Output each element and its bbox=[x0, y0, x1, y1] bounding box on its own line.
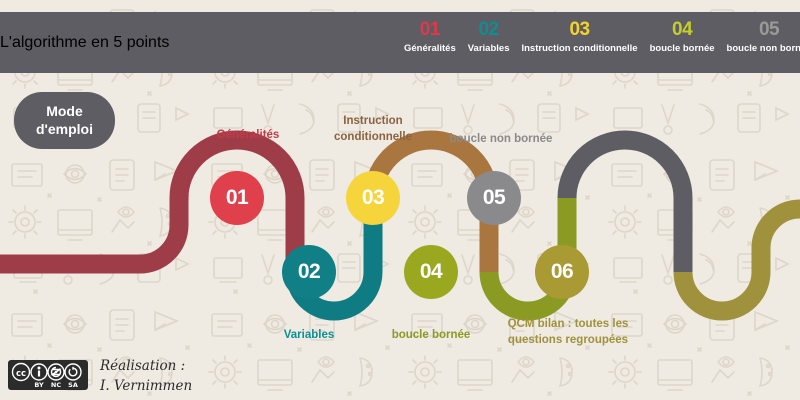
nav-item-05[interactable]: 05 boucle non bornée bbox=[721, 12, 800, 54]
step-circle-01[interactable]: 01 bbox=[210, 171, 264, 225]
step-label-06: QCM bilan : toutes les questions regroup… bbox=[488, 317, 648, 348]
nav-number-03: 03 bbox=[569, 20, 589, 39]
nav-item-01[interactable]: 01 Généralités bbox=[398, 12, 462, 54]
step-label-05: boucle non bornée bbox=[434, 132, 568, 148]
nav-label-02: Variables bbox=[468, 43, 510, 54]
nav-item-03[interactable]: 03 Instruction conditionnelle bbox=[515, 12, 643, 54]
nav-label-03: Instruction conditionnelle bbox=[521, 43, 637, 54]
infographic-canvas: L'algorithme en 5 points 01 Généralités … bbox=[0, 0, 800, 400]
ribbon-segment-06 bbox=[683, 209, 800, 311]
step-circle-05[interactable]: 05 bbox=[467, 171, 521, 225]
mode-emploi-line2: d'emploi bbox=[36, 121, 93, 139]
step-number-05: 05 bbox=[483, 186, 505, 210]
step-circle-02[interactable]: 02 bbox=[282, 245, 336, 299]
ribbon-segment-05 bbox=[567, 140, 683, 272]
step-number-02: 02 bbox=[298, 260, 320, 284]
page-title: L'algorithme en 5 points bbox=[0, 34, 169, 52]
step-circle-06[interactable]: 06 bbox=[535, 245, 589, 299]
step-number-03: 03 bbox=[362, 186, 384, 210]
cc-sa-label: SA bbox=[68, 381, 78, 389]
step-number-01: 01 bbox=[226, 186, 248, 210]
step-label-01: Généralités bbox=[188, 128, 308, 144]
nav-label-01: Généralités bbox=[404, 43, 456, 54]
step-circle-03[interactable]: 03 bbox=[346, 171, 400, 225]
top-navigation: 01 Généralités 02 Variables 03 Instructi… bbox=[398, 12, 800, 73]
nav-label-05: boucle non bornée bbox=[727, 43, 800, 54]
nav-number-01: 01 bbox=[420, 20, 440, 39]
step-label-02: Variables bbox=[249, 328, 369, 344]
cc-nc-label: NC bbox=[51, 381, 61, 389]
svg-text:cc: cc bbox=[16, 369, 26, 379]
step-circle-04[interactable]: 04 bbox=[404, 245, 458, 299]
nav-number-05: 05 bbox=[759, 20, 779, 39]
step-label-03: Instruction conditionnelle bbox=[308, 114, 438, 145]
mode-emploi-line1: Mode bbox=[46, 103, 83, 121]
nav-number-02: 02 bbox=[479, 20, 499, 39]
mode-emploi-button[interactable]: Mode d'emploi bbox=[14, 92, 115, 149]
cc-by-label: BY bbox=[34, 381, 44, 389]
creative-commons-license-badge[interactable]: cc BY NC SA bbox=[8, 360, 88, 390]
nav-item-02[interactable]: 02 Variables bbox=[462, 12, 516, 54]
author-credit: Réalisation : I. Vernimmen bbox=[100, 357, 192, 396]
step-number-06: 06 bbox=[551, 260, 573, 284]
nav-item-04[interactable]: 04 boucle bornée bbox=[644, 12, 721, 54]
nav-number-04: 04 bbox=[672, 20, 692, 39]
cc-license-icons: cc BY NC SA bbox=[8, 360, 88, 390]
step-label-04: boucle bornée bbox=[371, 328, 491, 344]
nav-label-04: boucle bornée bbox=[650, 43, 715, 54]
step-number-04: 04 bbox=[420, 260, 442, 284]
